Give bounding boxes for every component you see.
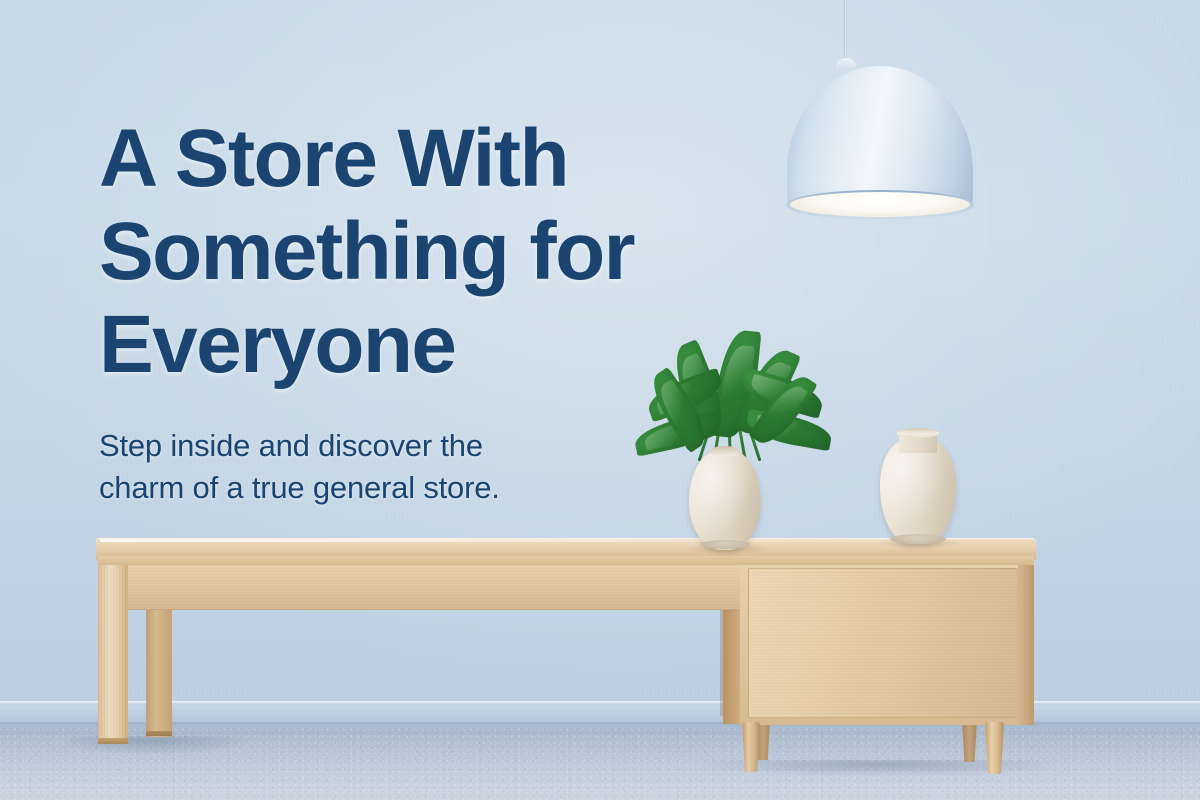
cabinet-back-right-leg [962,720,977,762]
cabinet-right-edge [1018,562,1034,725]
bench-floor-shadow [70,736,250,754]
bench-back-left-leg [146,606,172,737]
plant-vase [689,450,761,550]
ceramic-vase-lip [897,428,939,438]
furniture-group [0,0,1200,800]
ceramic-vase [880,440,956,544]
plant-vase-mouth [709,446,741,457]
cabinet-front-left-leg [742,722,760,772]
ceramic-vase-base [890,534,946,544]
plant-vase-base [700,540,750,549]
bench-apron [120,562,740,610]
cabinet-front-right-leg [985,722,1004,774]
scene-canvas: A Store With Something for Everyone Step… [0,0,1200,800]
bench-front-left-leg-foot [98,738,128,744]
bench-back-left-leg-foot [146,731,172,736]
cabinet-door-panel [748,568,1018,718]
bench-top-edge-face [98,556,1034,565]
bench-front-left-leg [98,560,128,743]
